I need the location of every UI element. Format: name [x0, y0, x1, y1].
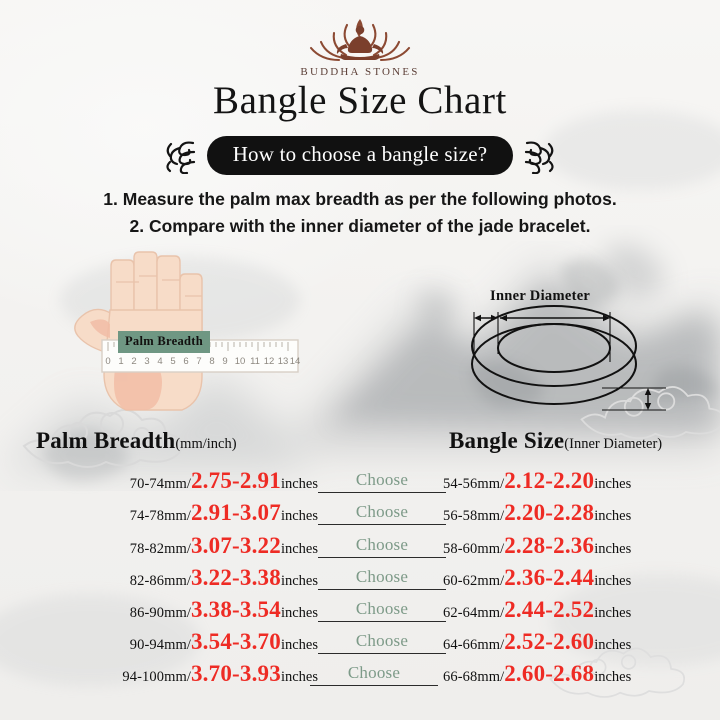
palm-mm-value: 70-74mm — [130, 476, 187, 492]
how-to-choose-pill: How to choose a bangle size? — [207, 136, 514, 175]
connector-line — [318, 653, 446, 654]
instruction-line-1: 1. Measure the palm max breadth as per t… — [0, 186, 720, 213]
choose-link[interactable]: Choose — [318, 631, 446, 651]
svg-text:11: 11 — [250, 356, 260, 367]
svg-text:7: 7 — [196, 356, 201, 367]
connector-line — [318, 621, 446, 622]
bangle-inch-value: 2.12-2.20 — [504, 468, 594, 493]
swirl-flourish-icon — [522, 138, 556, 174]
bangle-size-cell: 60-62mm/2.36-2.44inches — [443, 565, 631, 591]
unit-label: inches — [594, 476, 631, 492]
choose-link[interactable]: Choose — [318, 567, 446, 587]
connector-line — [310, 685, 438, 686]
palm-breadth-cell: 78-82mm/3.07-3.22inches — [130, 533, 318, 559]
unit-label: inches — [594, 669, 631, 685]
unit-label: inches — [594, 637, 631, 653]
palm-mm-value: 74-78mm — [130, 508, 187, 524]
unit-label: inches — [281, 541, 318, 557]
palm-inch-value: 3.22-3.38 — [191, 565, 281, 590]
svg-text:4: 4 — [157, 356, 162, 367]
bangle-size-cell: 58-60mm/2.28-2.36inches — [443, 533, 631, 559]
choose-link[interactable]: Choose — [318, 470, 446, 490]
bangle-inch-value: 2.52-2.60 — [504, 629, 594, 654]
page-title: Bangle Size Chart — [0, 78, 720, 123]
connector-line — [318, 589, 446, 590]
bangle-size-cell: 66-68mm/2.60-2.68inches — [443, 661, 631, 687]
palm-breadth-cell: 90-94mm/3.54-3.70inches — [130, 629, 318, 655]
bangle-illustration: Inner Diameter — [452, 292, 672, 422]
bangle-inch-value: 2.60-2.68 — [504, 661, 594, 686]
choose-link[interactable]: Choose — [318, 599, 446, 619]
bangle-mm-value: 54-56mm — [443, 476, 500, 492]
palm-mm-value: 94-100mm — [122, 669, 186, 685]
palm-mm-value: 86-90mm — [130, 605, 187, 621]
brand-name: BUDDHA STONES — [300, 66, 419, 78]
connector-line — [318, 557, 446, 558]
table-row: 78-82mm/3.07-3.22inchesChoose58-60mm/2.2… — [0, 530, 720, 562]
palm-inch-value: 2.75-2.91 — [191, 468, 281, 493]
palm-breadth-cell: 74-78mm/2.91-3.07inches — [130, 500, 318, 526]
unit-label: inches — [281, 637, 318, 653]
choose-link[interactable]: Choose — [318, 535, 446, 555]
bangle-mm-value: 58-60mm — [443, 541, 500, 557]
brand-logo: BUDDHA STONES — [0, 12, 720, 78]
choose-link[interactable]: Choose — [310, 663, 438, 683]
svg-text:9: 9 — [222, 356, 227, 367]
bangle-mm-value: 64-66mm — [443, 637, 500, 653]
palm-breadth-cell: 86-90mm/3.38-3.54inches — [130, 597, 318, 623]
connector-line — [318, 524, 446, 525]
palm-breadth-header-main: Palm Breadth — [36, 428, 175, 453]
bangle-size-cell: 56-58mm/2.20-2.28inches — [443, 500, 631, 526]
palm-breadth-header: Palm Breadth(mm/inch) — [36, 428, 237, 454]
bangle-size-header: Bangle Size(Inner Diameter) — [449, 428, 662, 454]
hand-illustration: 012 345 678 91011 121314 Palm Breadth — [60, 248, 330, 428]
bangle-mm-value: 60-62mm — [443, 573, 500, 589]
svg-text:1: 1 — [118, 356, 123, 367]
palm-mm-value: 82-86mm — [130, 573, 187, 589]
table-row: 86-90mm/3.38-3.54inchesChoose62-64mm/2.4… — [0, 595, 720, 627]
palm-breadth-cell: 82-86mm/3.22-3.38inches — [130, 565, 318, 591]
palm-breadth-cell: 94-100mm/3.70-3.93inches — [122, 661, 318, 687]
table-row: 82-86mm/3.22-3.38inchesChoose60-62mm/2.3… — [0, 563, 720, 595]
inner-diameter-label: Inner Diameter — [490, 288, 590, 305]
subtitle-row: How to choose a bangle size? — [0, 136, 720, 175]
bangle-size-cell: 62-64mm/2.44-2.52inches — [443, 597, 631, 623]
palm-inch-value: 3.07-3.22 — [191, 533, 281, 558]
unit-label: inches — [281, 573, 318, 589]
palm-breadth-header-sub: (mm/inch) — [175, 436, 236, 452]
instruction-line-2: 2. Compare with the inner diameter of th… — [0, 213, 720, 240]
palm-inch-value: 3.70-3.93 — [191, 661, 281, 686]
svg-text:8: 8 — [209, 356, 214, 367]
bangle-inch-value: 2.28-2.36 — [504, 533, 594, 558]
unit-label: inches — [594, 573, 631, 589]
bangle-size-header-sub: (Inner Diameter) — [564, 436, 662, 452]
table-row: 74-78mm/2.91-3.07inchesChoose56-58mm/2.2… — [0, 498, 720, 530]
palm-inch-value: 3.38-3.54 — [191, 597, 281, 622]
unit-label: inches — [281, 605, 318, 621]
connector-line — [318, 492, 446, 493]
unit-label: inches — [281, 476, 318, 492]
bangle-inch-value: 2.36-2.44 — [504, 565, 594, 590]
choose-link[interactable]: Choose — [318, 502, 446, 522]
svg-text:5: 5 — [170, 356, 175, 367]
palm-inch-value: 2.91-3.07 — [191, 500, 281, 525]
unit-label: inches — [594, 541, 631, 557]
svg-text:0: 0 — [105, 356, 110, 367]
size-table: 70-74mm/2.75-2.91inchesChoose54-56mm/2.1… — [0, 466, 720, 691]
bangle-ring-icon — [452, 292, 672, 422]
bangle-size-header-main: Bangle Size — [449, 428, 564, 453]
svg-text:12: 12 — [264, 356, 275, 367]
svg-text:2: 2 — [131, 356, 136, 367]
bangle-inch-value: 2.44-2.52 — [504, 597, 594, 622]
svg-text:10: 10 — [235, 356, 246, 367]
bangle-size-cell: 54-56mm/2.12-2.20inches — [443, 468, 631, 494]
palm-breadth-label: Palm Breadth — [118, 331, 210, 353]
table-row: 70-74mm/2.75-2.91inchesChoose54-56mm/2.1… — [0, 466, 720, 498]
bangle-mm-value: 62-64mm — [443, 605, 500, 621]
svg-text:14: 14 — [290, 356, 301, 367]
bangle-mm-value: 56-58mm — [443, 508, 500, 524]
svg-text:6: 6 — [183, 356, 188, 367]
bangle-mm-value: 66-68mm — [443, 669, 500, 685]
svg-text:13: 13 — [278, 356, 289, 367]
table-row: 94-100mm/3.70-3.93inchesChoose66-68mm/2.… — [0, 659, 720, 691]
palm-breadth-cell: 70-74mm/2.75-2.91inches — [130, 468, 318, 494]
palm-mm-value: 90-94mm — [130, 637, 187, 653]
bangle-size-cell: 64-66mm/2.52-2.60inches — [443, 629, 631, 655]
unit-label: inches — [594, 605, 631, 621]
bangle-inch-value: 2.20-2.28 — [504, 500, 594, 525]
lotus-meditation-icon — [301, 12, 419, 64]
swirl-flourish-icon — [164, 138, 198, 174]
palm-inch-value: 3.54-3.70 — [191, 629, 281, 654]
table-row: 90-94mm/3.54-3.70inchesChoose64-66mm/2.5… — [0, 627, 720, 659]
unit-label: inches — [281, 508, 318, 524]
unit-label: inches — [594, 508, 631, 524]
svg-text:3: 3 — [144, 356, 149, 367]
palm-mm-value: 78-82mm — [130, 541, 187, 557]
instructions: 1. Measure the palm max breadth as per t… — [0, 186, 720, 239]
